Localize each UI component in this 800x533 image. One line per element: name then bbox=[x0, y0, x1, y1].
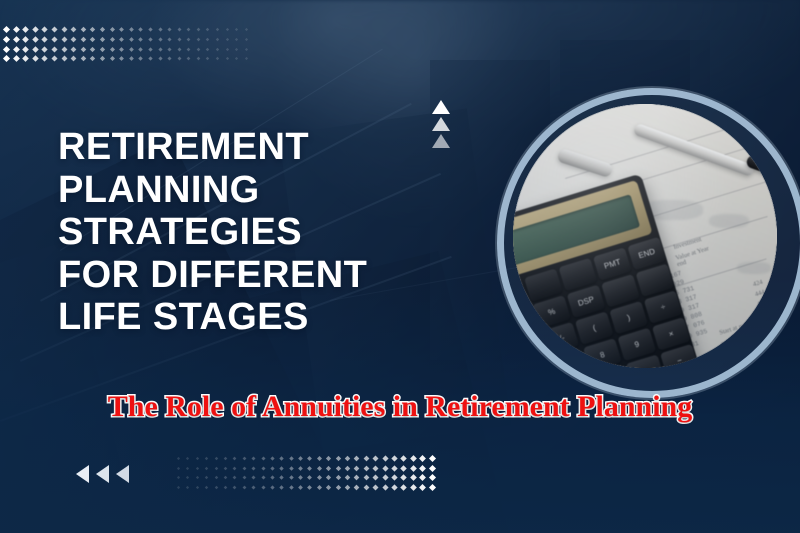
page-title-line-5: LIFE STAGES bbox=[58, 296, 488, 339]
dot bbox=[51, 36, 57, 42]
dot bbox=[13, 46, 20, 53]
dot bbox=[225, 28, 228, 31]
dot bbox=[139, 27, 144, 32]
dot bbox=[205, 476, 208, 479]
dot bbox=[139, 37, 144, 42]
dot bbox=[252, 466, 256, 470]
dot bbox=[354, 465, 360, 471]
dot bbox=[186, 466, 189, 469]
dot bbox=[317, 485, 322, 490]
dot bbox=[308, 456, 313, 461]
dot bbox=[177, 476, 180, 479]
dot bbox=[22, 26, 29, 33]
dot bbox=[119, 27, 124, 32]
dot bbox=[242, 466, 246, 470]
dot bbox=[270, 456, 274, 460]
dot bbox=[429, 484, 436, 491]
dot bbox=[61, 46, 67, 52]
dot bbox=[13, 36, 20, 43]
dot bbox=[3, 36, 10, 43]
dot bbox=[42, 56, 48, 62]
dot bbox=[110, 37, 115, 42]
dot bbox=[100, 56, 105, 61]
dot bbox=[214, 457, 218, 461]
dot bbox=[317, 466, 322, 471]
dot bbox=[354, 475, 360, 481]
dot bbox=[119, 37, 124, 42]
dot bbox=[119, 56, 124, 61]
dot bbox=[245, 57, 248, 60]
dot bbox=[216, 47, 219, 50]
dot bbox=[119, 47, 124, 52]
dot bbox=[224, 466, 228, 470]
retirement-planning-banner: 373 167 804 029 1 296 731 1 493 317 1 85… bbox=[0, 0, 800, 533]
dot bbox=[391, 465, 397, 471]
dot bbox=[42, 46, 48, 52]
dot bbox=[158, 37, 162, 41]
dot bbox=[326, 485, 331, 490]
dot bbox=[100, 27, 105, 32]
dot bbox=[158, 27, 162, 31]
dot bbox=[242, 476, 246, 480]
dot bbox=[90, 56, 95, 61]
dot bbox=[391, 484, 397, 490]
dot bbox=[419, 474, 426, 481]
photo-paper-mark bbox=[737, 262, 771, 274]
dot bbox=[214, 476, 218, 480]
dot bbox=[410, 484, 417, 491]
dot bbox=[187, 47, 191, 51]
dot bbox=[419, 484, 426, 491]
dot bbox=[148, 27, 152, 31]
dot bbox=[177, 486, 180, 489]
page-title-line-2: PLANNING bbox=[58, 169, 488, 212]
dot bbox=[317, 475, 322, 480]
dot bbox=[233, 457, 237, 461]
dot bbox=[345, 485, 350, 490]
dot bbox=[61, 36, 67, 42]
dot bbox=[280, 456, 284, 460]
dot bbox=[270, 485, 274, 489]
dot bbox=[225, 38, 228, 41]
dot bbox=[22, 56, 29, 63]
dot bbox=[235, 47, 238, 50]
dot bbox=[289, 485, 294, 490]
dot bbox=[270, 466, 274, 470]
dot bbox=[261, 456, 265, 460]
dot bbox=[345, 456, 350, 461]
dot bbox=[90, 27, 95, 32]
dot bbox=[410, 474, 417, 481]
dot bbox=[373, 484, 379, 490]
dot bbox=[71, 36, 77, 42]
dot bbox=[308, 485, 313, 490]
dot bbox=[71, 46, 77, 52]
dot bbox=[429, 465, 436, 472]
dot bbox=[110, 56, 115, 61]
dot bbox=[298, 456, 303, 461]
dot bbox=[80, 37, 86, 43]
dot bbox=[216, 38, 219, 41]
dot bbox=[197, 28, 201, 32]
dot bbox=[252, 457, 256, 461]
dot bbox=[261, 476, 265, 480]
dot bbox=[391, 475, 397, 481]
triangle-up-icon-1 bbox=[432, 100, 450, 114]
dot bbox=[245, 48, 248, 51]
dot bbox=[382, 465, 388, 471]
dot bbox=[22, 36, 29, 43]
dot bbox=[100, 37, 105, 42]
dot bbox=[129, 57, 134, 62]
dot bbox=[197, 47, 201, 51]
dot bbox=[177, 457, 180, 460]
dot bbox=[80, 46, 86, 52]
dot bbox=[363, 484, 369, 490]
dot bbox=[214, 466, 218, 470]
dot bbox=[187, 37, 191, 41]
dot bbox=[205, 466, 208, 469]
dot bbox=[401, 455, 408, 462]
dot bbox=[233, 466, 237, 470]
page-title-line-4: FOR DIFFERENT bbox=[58, 254, 488, 297]
dot bbox=[158, 57, 162, 61]
dot bbox=[235, 28, 238, 31]
dot bbox=[139, 57, 144, 62]
dot bbox=[177, 467, 180, 470]
dot bbox=[205, 457, 208, 460]
dot bbox=[110, 27, 115, 32]
dot bbox=[177, 28, 181, 32]
dot bbox=[206, 47, 210, 51]
dot bbox=[13, 26, 20, 33]
dot bbox=[168, 37, 172, 41]
dot bbox=[51, 26, 57, 32]
dot bbox=[225, 57, 228, 60]
dot bbox=[3, 26, 10, 33]
dot bbox=[61, 56, 67, 62]
dot bbox=[42, 26, 48, 32]
dot bbox=[242, 485, 246, 489]
dot bbox=[224, 485, 228, 489]
dot bbox=[345, 465, 350, 470]
dot bbox=[298, 475, 303, 480]
dot bbox=[373, 456, 379, 462]
dot bbox=[245, 28, 248, 31]
dot bbox=[363, 465, 369, 471]
dot bbox=[100, 47, 105, 52]
dot bbox=[419, 465, 426, 472]
dot bbox=[196, 466, 199, 469]
dot bbox=[382, 484, 388, 490]
dot bbox=[280, 466, 284, 470]
dot bbox=[391, 455, 397, 461]
dot bbox=[129, 37, 134, 42]
dot bbox=[158, 47, 162, 51]
dot bbox=[289, 475, 294, 480]
dot bbox=[61, 27, 67, 33]
dot bbox=[32, 56, 38, 62]
dot bbox=[187, 57, 191, 61]
dot bbox=[233, 485, 237, 489]
dot bbox=[71, 27, 77, 33]
dot bbox=[335, 475, 340, 480]
dot bbox=[196, 476, 199, 479]
dot bbox=[298, 466, 303, 471]
dot bbox=[168, 47, 172, 51]
dot bbox=[90, 46, 95, 51]
dot bbox=[410, 455, 417, 462]
dot bbox=[196, 457, 199, 460]
dot bbox=[80, 56, 86, 62]
overlay-subtitle: The Role of Annuities in Retirement Plan… bbox=[84, 390, 716, 424]
dot-pattern-top-left bbox=[4, 27, 253, 66]
dot bbox=[90, 37, 95, 42]
dot bbox=[196, 486, 199, 489]
dot bbox=[280, 475, 284, 479]
dot bbox=[335, 485, 340, 490]
dot bbox=[354, 484, 360, 490]
dot bbox=[129, 47, 134, 52]
dot bbox=[22, 46, 29, 53]
dot bbox=[308, 475, 313, 480]
dot bbox=[363, 456, 369, 462]
dot bbox=[177, 37, 181, 41]
dot bbox=[3, 55, 10, 62]
dot bbox=[261, 466, 265, 470]
dot bbox=[298, 485, 303, 490]
dot bbox=[401, 474, 408, 481]
dot bbox=[233, 476, 237, 480]
dot bbox=[401, 484, 408, 491]
dot bbox=[186, 476, 189, 479]
dot bbox=[363, 475, 369, 481]
dot bbox=[261, 485, 265, 489]
dot bbox=[317, 456, 322, 461]
page-title-line-3: STRATEGIES bbox=[58, 211, 488, 254]
dot bbox=[354, 456, 360, 462]
dot bbox=[345, 475, 350, 480]
dot bbox=[419, 455, 426, 462]
dot bbox=[216, 28, 219, 31]
dot bbox=[197, 37, 201, 41]
dot bbox=[410, 465, 417, 472]
dot bbox=[177, 47, 181, 51]
dot bbox=[148, 37, 152, 41]
dot bbox=[110, 47, 115, 52]
dot bbox=[32, 26, 38, 32]
dot bbox=[224, 457, 228, 461]
dot bbox=[206, 57, 210, 61]
dot bbox=[289, 456, 294, 461]
dot bbox=[270, 476, 274, 480]
dot bbox=[71, 56, 77, 62]
triangle-left-icon-3 bbox=[116, 465, 129, 483]
dot bbox=[429, 455, 436, 462]
triangle-left-icon-1 bbox=[76, 465, 89, 483]
dot bbox=[382, 475, 388, 481]
page-title-line-1: RETIREMENT bbox=[58, 126, 488, 169]
dot bbox=[186, 457, 189, 460]
dot bbox=[382, 455, 388, 461]
dot bbox=[225, 47, 228, 50]
dot bbox=[280, 485, 284, 489]
dot bbox=[242, 457, 246, 461]
dot bbox=[289, 466, 294, 471]
dot bbox=[235, 57, 238, 60]
dot bbox=[206, 38, 210, 42]
dot bbox=[224, 476, 228, 480]
dot bbox=[32, 36, 38, 42]
dot bbox=[429, 474, 436, 481]
dot bbox=[252, 485, 256, 489]
circular-photo-calculator-documents: 373 167 804 029 1 296 731 1 493 317 1 85… bbox=[513, 104, 777, 368]
dot bbox=[335, 465, 340, 470]
dot bbox=[80, 27, 86, 33]
dot bbox=[139, 47, 144, 52]
dot bbox=[235, 38, 238, 41]
dot bbox=[51, 56, 57, 62]
dot bbox=[206, 28, 210, 32]
dot bbox=[373, 465, 379, 471]
dot bbox=[3, 46, 10, 53]
dot bbox=[32, 46, 38, 52]
dot bbox=[129, 27, 134, 32]
dot bbox=[326, 475, 331, 480]
dot bbox=[13, 55, 20, 62]
dot bbox=[326, 456, 331, 461]
page-title: RETIREMENTPLANNINGSTRATEGIESFOR DIFFEREN… bbox=[58, 126, 488, 339]
dot bbox=[51, 46, 57, 52]
dot bbox=[148, 47, 152, 51]
dot bbox=[197, 57, 201, 61]
dot-pattern-bottom-left bbox=[176, 456, 439, 494]
dot bbox=[373, 475, 379, 481]
dot bbox=[401, 465, 408, 472]
dot bbox=[177, 57, 181, 61]
dot bbox=[335, 456, 340, 461]
photo-paper-mark bbox=[709, 214, 749, 228]
dot bbox=[186, 486, 189, 489]
dot bbox=[42, 36, 48, 42]
dot bbox=[214, 486, 218, 490]
dot bbox=[168, 27, 172, 31]
dot bbox=[148, 57, 152, 61]
triangle-left-icon-2 bbox=[96, 465, 109, 483]
dot bbox=[205, 486, 208, 489]
dot bbox=[326, 466, 331, 471]
dot bbox=[187, 28, 191, 32]
dot bbox=[252, 476, 256, 480]
dot bbox=[245, 38, 248, 41]
dot bbox=[308, 466, 313, 471]
dot bbox=[168, 57, 172, 61]
dot bbox=[216, 57, 219, 60]
